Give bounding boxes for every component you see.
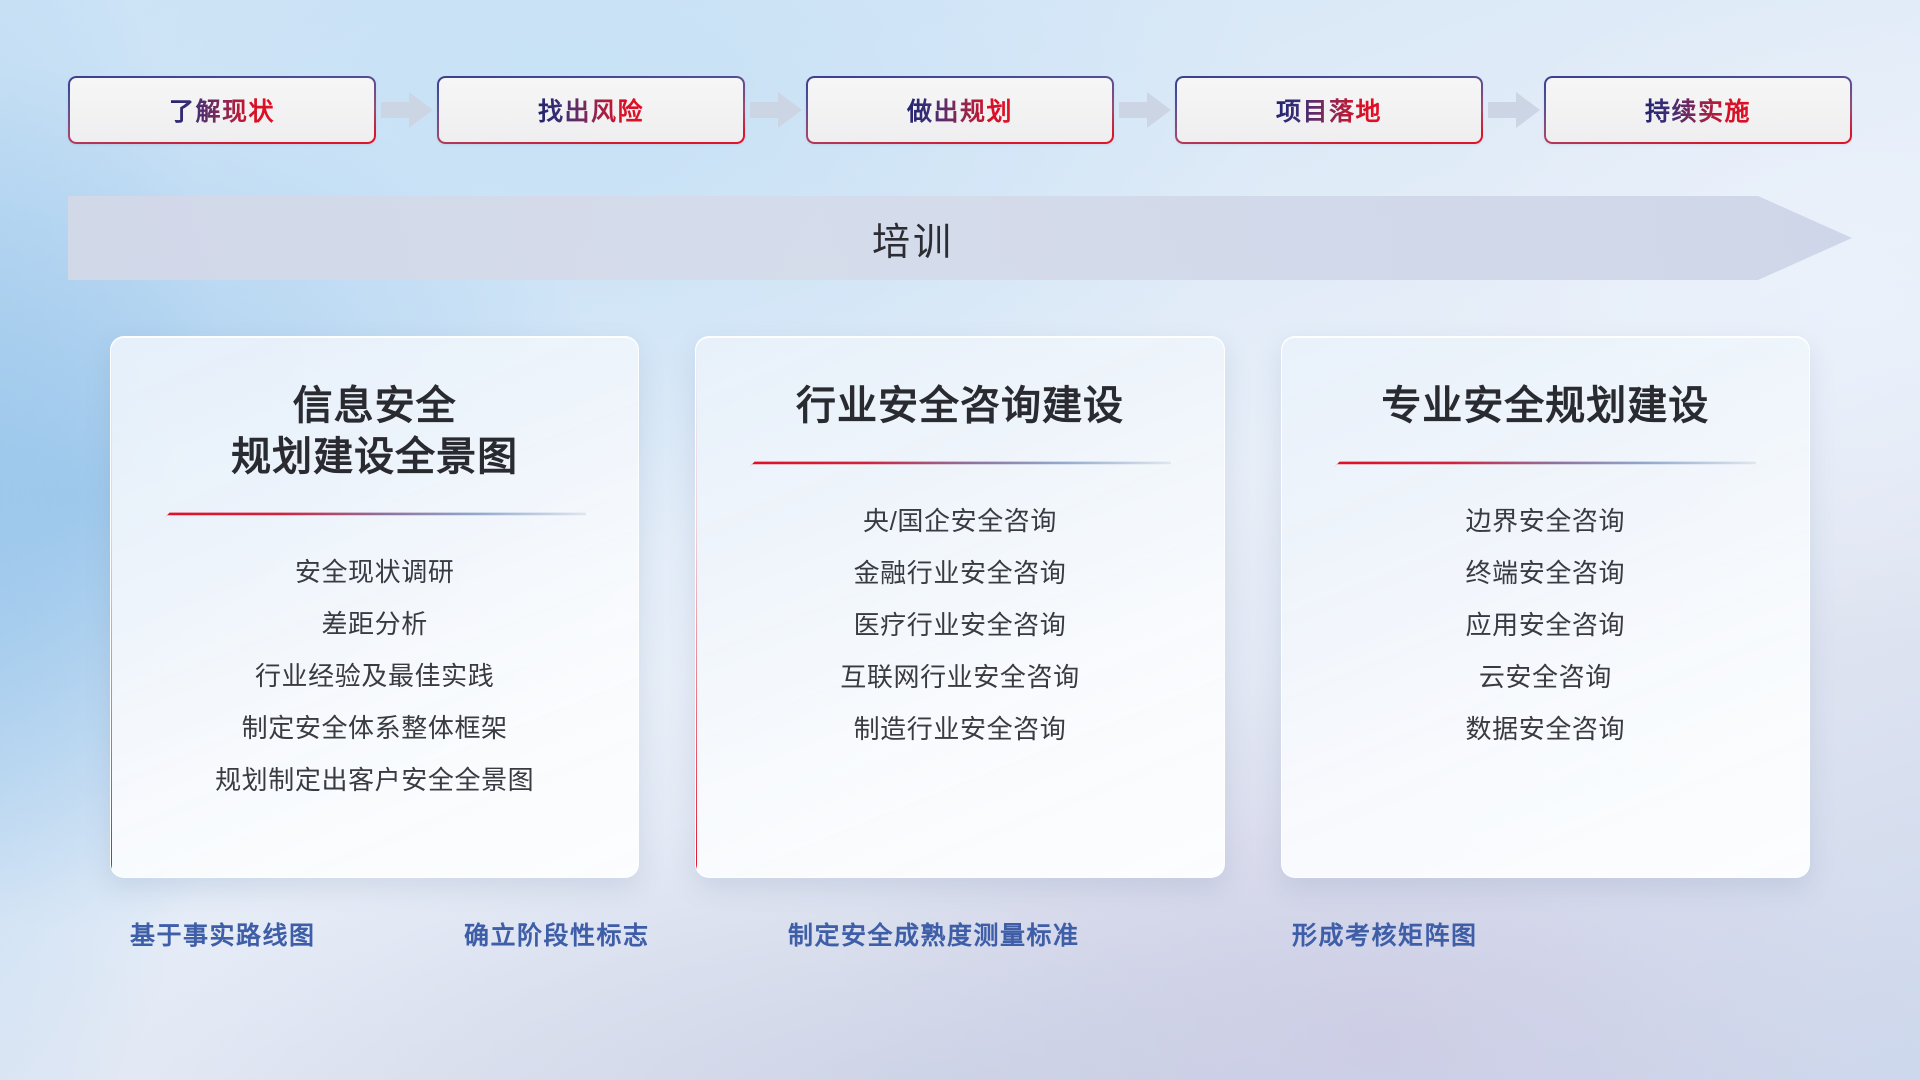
card-bottom-accent: [1281, 877, 1810, 878]
card-bottom-accent: [695, 877, 1224, 878]
step-label: 项目落地: [1276, 92, 1382, 128]
process-step-row: 了解现状 找出风险 做出规划 项目落地: [68, 74, 1852, 146]
list-item: 行业经验及最佳实践: [111, 650, 638, 702]
banner-title: 培训: [68, 196, 1758, 280]
training-banner: 培训: [68, 196, 1852, 280]
step-label: 持续实施: [1645, 92, 1751, 128]
list-item: 央/国企安全咨询: [696, 495, 1223, 547]
step-label: 做出规划: [907, 92, 1013, 128]
step-arrow-4: [1483, 92, 1544, 128]
card-accent-divider: [1334, 460, 1756, 469]
list-item: 差距分析: [111, 598, 638, 650]
list-item: 应用安全咨询: [1282, 599, 1809, 651]
list-item: 互联网行业安全咨询: [696, 651, 1223, 703]
step-label: 找出风险: [538, 92, 644, 128]
step-label: 了解现状: [169, 92, 275, 128]
footnote-label: 基于事实路线图: [130, 916, 316, 952]
step-box-2[interactable]: 找出风险: [437, 76, 745, 144]
list-item: 规划制定出客户安全全景图: [111, 754, 638, 806]
card-industry-security-consulting[interactable]: 行业安全咨询建设 央/国企安全咨询: [695, 336, 1224, 878]
footnote-label: 确立阶段性标志: [464, 916, 650, 952]
list-item: 云安全咨询: [1282, 651, 1809, 703]
step-box-3[interactable]: 做出规划: [806, 76, 1114, 144]
footnote-row: 基于事实路线图 确立阶段性标志 制定安全成熟度测量标准 形成考核矩阵图: [0, 916, 1920, 966]
list-item: 终端安全咨询: [1282, 547, 1809, 599]
list-item: 金融行业安全咨询: [696, 547, 1223, 599]
card-row: 信息安全 规划建设全景图 安全现状调研: [110, 336, 1810, 878]
card-accent-divider: [164, 511, 586, 520]
list-item: 医疗行业安全咨询: [696, 599, 1223, 651]
slide-canvas: 了解现状 找出风险 做出规划 项目落地: [0, 0, 1920, 1080]
step-box-5[interactable]: 持续实施: [1544, 76, 1852, 144]
card-item-list: 边界安全咨询 终端安全咨询 应用安全咨询 云安全咨询 数据安全咨询: [1282, 495, 1809, 755]
list-item: 制造行业安全咨询: [696, 703, 1223, 755]
footnote-label: 制定安全成熟度测量标准: [788, 916, 1080, 952]
step-box-4[interactable]: 项目落地: [1175, 76, 1483, 144]
list-item: 边界安全咨询: [1282, 495, 1809, 547]
list-item: 制定安全体系整体框架: [111, 702, 638, 754]
step-box-1[interactable]: 了解现状: [68, 76, 376, 144]
card-item-list: 央/国企安全咨询 金融行业安全咨询 医疗行业安全咨询 互联网行业安全咨询 制造行…: [696, 495, 1223, 755]
step-arrow-3: [1114, 92, 1175, 128]
card-item-list: 安全现状调研 差距分析 行业经验及最佳实践 制定安全体系整体框架 规划制定出客户…: [111, 546, 638, 806]
card-title: 专业安全规划建设: [1363, 381, 1727, 432]
card-professional-security-planning[interactable]: 专业安全规划建设 边界安全咨询: [1281, 336, 1810, 878]
card-title: 信息安全 规划建设全景图: [213, 381, 536, 483]
card-accent-divider: [749, 460, 1171, 469]
step-arrow-1: [376, 92, 437, 128]
card-title: 行业安全咨询建设: [778, 381, 1142, 432]
card-information-security-blueprint[interactable]: 信息安全 规划建设全景图 安全现状调研: [110, 336, 639, 878]
footnote-label: 形成考核矩阵图: [1292, 916, 1478, 952]
card-bottom-accent: [110, 877, 639, 878]
step-arrow-2: [745, 92, 806, 128]
list-item: 安全现状调研: [111, 546, 638, 598]
list-item: 数据安全咨询: [1282, 703, 1809, 755]
